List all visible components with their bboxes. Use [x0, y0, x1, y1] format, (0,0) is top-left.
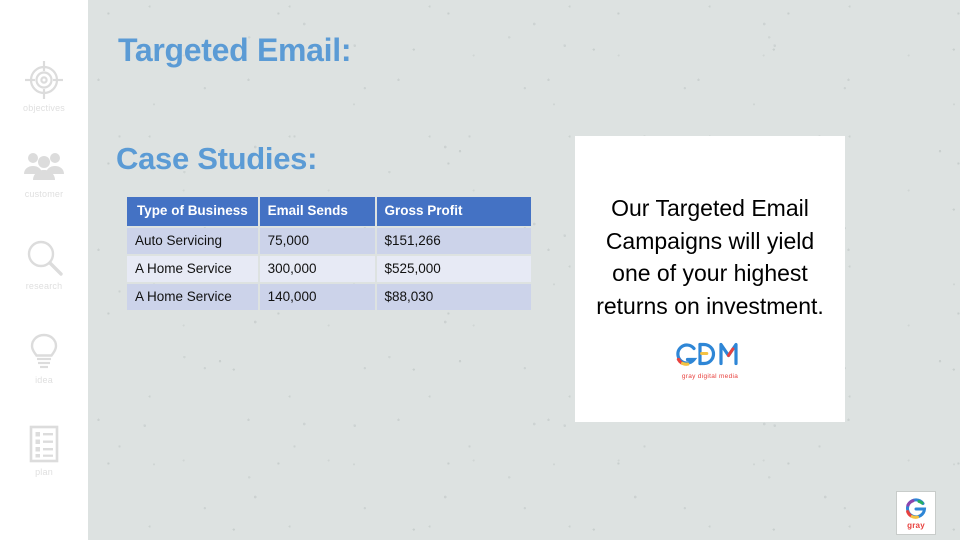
callout-text: Our Targeted Email Campaigns will yield …	[584, 192, 836, 323]
gray-corner-badge[interactable]: gray	[896, 491, 936, 535]
gdm-logo: gray digital media	[674, 341, 746, 380]
table-row: Auto Servicing 75,000 $151,266	[127, 228, 531, 254]
cell-email-sends: 140,000	[260, 284, 375, 310]
column-header-gross-profit: Gross Profit	[377, 197, 532, 226]
column-header-type-of-business: Type of Business	[127, 197, 258, 226]
table-row: A Home Service 300,000 $525,000	[127, 256, 531, 282]
slide-canvas: objectives customer	[0, 0, 960, 540]
people-icon	[22, 144, 66, 188]
cell-gross-profit: $525,000	[377, 256, 532, 282]
sidebar-item-customer[interactable]: customer	[0, 144, 88, 199]
gray-badge-label: gray	[907, 521, 925, 530]
cell-business: Auto Servicing	[127, 228, 258, 254]
sidebar-item-label: plan	[0, 467, 88, 477]
table-header-row: Type of Business Email Sends Gross Profi…	[127, 197, 531, 226]
checklist-icon	[22, 422, 66, 466]
cell-email-sends: 75,000	[260, 228, 375, 254]
cell-business: A Home Service	[127, 284, 258, 310]
slide-title-secondary: Case Studies:	[116, 141, 317, 177]
target-icon	[22, 58, 66, 102]
sidebar-item-label: idea	[0, 375, 88, 385]
column-header-email-sends: Email Sends	[260, 197, 375, 226]
gray-g-logo-icon	[904, 497, 928, 521]
slide-title-primary: Targeted Email:	[118, 32, 351, 69]
table-row: A Home Service 140,000 $88,030	[127, 284, 531, 310]
cell-gross-profit: $88,030	[377, 284, 532, 310]
gdm-logo-mark	[674, 341, 746, 367]
magnifier-icon	[22, 236, 66, 280]
cell-gross-profit: $151,266	[377, 228, 532, 254]
case-studies-table: Type of Business Email Sends Gross Profi…	[125, 195, 533, 312]
lightbulb-icon	[22, 330, 66, 374]
sidebar-item-objectives[interactable]: objectives	[0, 58, 88, 113]
cell-email-sends: 300,000	[260, 256, 375, 282]
sidebar-item-label: research	[0, 281, 88, 291]
callout-panel: Our Targeted Email Campaigns will yield …	[575, 136, 845, 422]
sidebar-item-idea[interactable]: idea	[0, 330, 88, 385]
sidebar-item-label: customer	[0, 189, 88, 199]
sidebar-item-research[interactable]: research	[0, 236, 88, 291]
cell-business: A Home Service	[127, 256, 258, 282]
sidebar-item-plan[interactable]: plan	[0, 422, 88, 477]
left-sidebar: objectives customer	[0, 0, 88, 540]
sidebar-item-label: objectives	[0, 103, 88, 113]
gdm-tagline: gray digital media	[674, 373, 746, 380]
